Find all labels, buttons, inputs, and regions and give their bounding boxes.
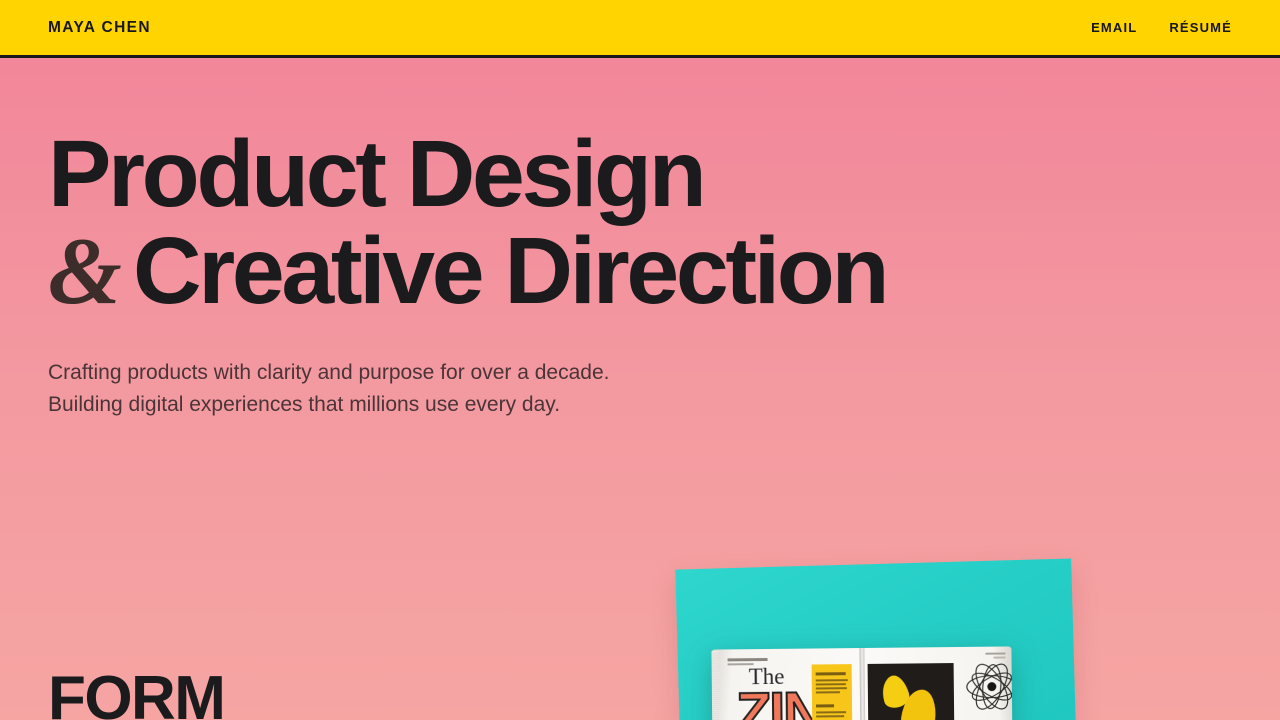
hero-headline-line-2-text: Creative Direction: [133, 218, 886, 324]
sidebar-text-line: [816, 704, 834, 707]
hero-headline-line-1: Product Design: [48, 126, 886, 223]
hero-section: Product Design &Creative Direction Craft…: [48, 126, 886, 421]
ampersand-glyph: &: [48, 218, 133, 324]
hero-headline-line-2: &Creative Direction: [48, 223, 886, 320]
sidebar-text-line: [816, 691, 840, 693]
sidebar-text-line: [816, 715, 844, 717]
hero-subtitle-line-2: Building digital experiences that millio…: [48, 389, 886, 421]
nav-link-email[interactable]: EMAIL: [1091, 20, 1137, 35]
primary-navigation: EMAIL RÉSUMÉ: [1091, 20, 1232, 35]
nav-link-resume[interactable]: RÉSUMÉ: [1169, 20, 1232, 35]
brand-logo[interactable]: MAYA CHEN: [48, 19, 151, 37]
magazine-left-page: The ZIN: [711, 648, 862, 720]
atom-diagram-icon: [962, 660, 1013, 717]
section-heading-form: FORM: [48, 668, 224, 720]
sidebar-text-line: [816, 683, 846, 685]
site-header: MAYA CHEN EMAIL RÉSUMÉ: [0, 0, 1280, 58]
left-page-kicker-rule: [728, 658, 768, 661]
page-root: MAYA CHEN EMAIL RÉSUMÉ Product Design &C…: [0, 0, 1280, 720]
hero-subtitle: Crafting products with clarity and purpo…: [48, 357, 886, 421]
sidebar-text-line: [816, 679, 848, 681]
magazine-page-edges: [711, 652, 719, 720]
right-page-folio-rule: [985, 652, 1005, 654]
right-page-black-panel: [868, 663, 955, 720]
right-page-folio-rule-2: [994, 656, 1006, 658]
magazine-photo: The ZIN: [660, 552, 1100, 720]
open-magazine: The ZIN: [711, 646, 1012, 720]
sidebar-text-line: [816, 672, 846, 675]
sidebar-text-line: [816, 687, 847, 689]
magazine-right-page: [861, 646, 1012, 720]
magazine-zine-word: ZIN: [736, 684, 823, 720]
sidebar-text-line: [816, 711, 846, 713]
left-page-yellow-sidebar: [812, 664, 853, 720]
hero-subtitle-line-1: Crafting products with clarity and purpo…: [48, 357, 886, 389]
